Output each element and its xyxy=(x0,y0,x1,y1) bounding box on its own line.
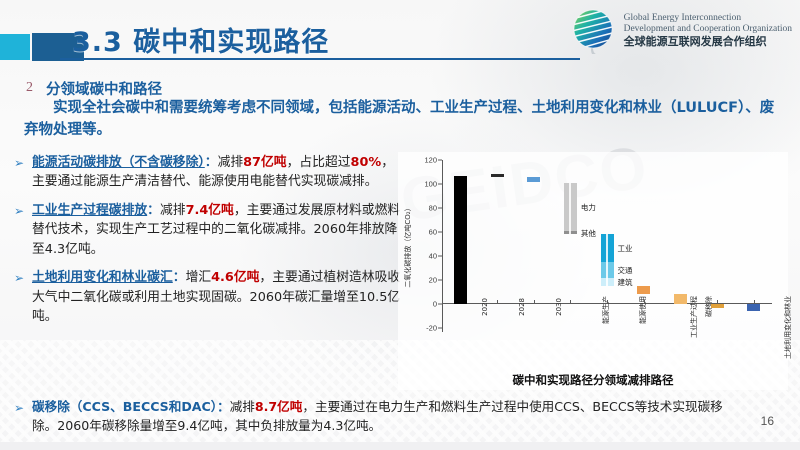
y-axis-tick-mark xyxy=(438,160,442,161)
y-axis-tick-mark xyxy=(438,232,442,233)
chart-bar xyxy=(711,304,724,308)
y-axis-tick-mark xyxy=(438,304,442,305)
chart-bar-divider xyxy=(606,234,608,286)
y-axis xyxy=(442,160,443,332)
chart-bar xyxy=(454,176,467,304)
chart-bar xyxy=(674,294,687,304)
x-axis-tick-label: 2028 xyxy=(518,298,526,316)
bullet-highlight: 7.4亿吨 xyxy=(186,203,234,218)
slide: 3.3 碳中和实现路径 xyxy=(0,0,800,450)
y-axis-tick-mark xyxy=(438,328,442,329)
page-title: 3.3 碳中和实现路径 xyxy=(72,20,329,59)
chart-bar xyxy=(527,177,540,182)
bullet-text-pre: 减排 xyxy=(230,399,255,414)
bullet-highlight: 4.6亿吨 xyxy=(211,270,259,285)
logo-en-line2: Development and Cooperation Organization xyxy=(624,24,792,35)
list-item: ➢ 能源活动碳排放（不含碳移除）：减排87亿吨，占比超过80%，主要通过能源生产… xyxy=(12,153,404,192)
chart-segment-label: 其他 xyxy=(581,228,596,239)
chart-segment-label: 工业 xyxy=(618,243,633,254)
bullet-highlight: 87亿吨 xyxy=(243,155,286,170)
x-axis-tick-label: 2020 xyxy=(481,298,489,316)
organization-logo: Global Energy Interconnection Developmen… xyxy=(572,6,792,56)
bullet-heading: 能源活动碳排放（不含碳移除） xyxy=(32,155,205,170)
chart-bar xyxy=(491,174,504,176)
bullet-list: ➢ 能源活动碳排放（不含碳移除）：减排87亿吨，占比超过80%，主要通过能源生产… xyxy=(12,153,404,336)
y-axis-tick-mark xyxy=(438,184,442,185)
bullet-text-mid: ，占比超过 xyxy=(287,155,351,170)
chart-segment-label: 电力 xyxy=(581,202,596,213)
x-axis-tick-mark xyxy=(497,300,498,304)
bullet-colon: ： xyxy=(147,203,160,218)
y-axis-tick-label: -20 xyxy=(426,324,437,333)
y-axis-tick-mark xyxy=(438,208,442,209)
bullet-heading: 土地利用变化和林业碳汇 xyxy=(32,270,173,285)
y-axis-tick-mark xyxy=(438,256,442,257)
globe-icon xyxy=(572,8,618,54)
section-marker: 2 xyxy=(26,80,33,96)
x-axis-tick-label: 工业生产过程 xyxy=(689,296,699,338)
y-axis-tick-label: 0 xyxy=(433,300,437,309)
chart-caption: 碳中和实现路径分领域减排路径 xyxy=(398,372,788,388)
arrow-bullet-icon: ➢ xyxy=(14,154,24,172)
page-number: 16 xyxy=(761,414,774,428)
x-axis-tick-mark xyxy=(607,300,608,304)
chart-plot-area: 二氧化碳排放（亿吨CO₂） -2002040608010012020202028… xyxy=(442,160,772,332)
y-axis-tick-label: 40 xyxy=(429,252,437,261)
y-axis-tick-label: 60 xyxy=(429,228,437,237)
section-title: 分领域碳中和路径 xyxy=(46,78,162,99)
list-item-carbon-removal: ➢ 碳移除（CCS、BECCS和DAC）：减排8.7亿吨，主要通过在电力生产和燃… xyxy=(12,398,732,436)
x-axis-tick-label: 土地利用变化和林业 xyxy=(783,296,793,359)
list-item: ➢ 土地利用变化和林业碳汇：增汇4.6亿吨，主要通过植树造林吸收大气中二氧化碳或… xyxy=(12,268,404,326)
y-axis-tick-label: 100 xyxy=(424,180,437,189)
y-axis-tick-label: 20 xyxy=(429,276,437,285)
bullet-heading: 工业生产过程碳排放 xyxy=(32,203,147,218)
bottom-strip xyxy=(0,442,800,450)
bullet-colon: ： xyxy=(205,155,218,170)
header-accent-cyan xyxy=(0,34,30,60)
bullet-heading: 碳移除（CCS、BECCS和DAC） xyxy=(32,399,217,414)
chart-bar xyxy=(637,286,650,294)
y-axis-tick-label: 80 xyxy=(429,204,437,213)
arrow-bullet-icon: ➢ xyxy=(14,399,24,417)
y-axis-label: 二氧化碳排放（亿吨CO₂） xyxy=(403,204,413,287)
logo-en-line1: Global Energy Interconnection xyxy=(624,13,792,24)
bullet-colon: ： xyxy=(217,399,230,414)
bullet-highlight: 8.7亿吨 xyxy=(255,399,303,414)
section-lead-paragraph: 实现全社会碳中和需要统筹考虑不同领域，包括能源活动、工业生产过程、土地利用变化和… xyxy=(24,98,784,142)
chart-segment-label: 建筑 xyxy=(618,277,633,288)
header-divider xyxy=(60,58,580,60)
chart-bar xyxy=(747,304,760,311)
bullet-text-pre: 减排 xyxy=(160,203,186,218)
x-axis-tick-mark xyxy=(570,300,571,304)
bullet-text-pre: 减排 xyxy=(218,155,244,170)
logo-cn-name: 全球能源互联网发展合作组织 xyxy=(624,36,792,49)
bullet-text-pre: 增汇 xyxy=(186,270,212,285)
x-axis-tick-mark xyxy=(644,300,645,304)
chart-segment-label: 交通 xyxy=(618,265,633,276)
y-axis-tick-label: 120 xyxy=(424,156,437,165)
arrow-bullet-icon: ➢ xyxy=(14,202,24,220)
y-axis-tick-mark xyxy=(438,280,442,281)
bullet-colon: ： xyxy=(173,270,186,285)
arrow-bullet-icon: ➢ xyxy=(14,269,24,287)
x-axis-tick-label: 2030 xyxy=(554,298,562,316)
x-axis-tick-mark xyxy=(534,300,535,304)
chart-bar-divider xyxy=(569,183,571,235)
logo-text-block: Global Energy Interconnection Developmen… xyxy=(624,13,792,49)
bullet-highlight-2: 80% xyxy=(351,155,382,170)
chart-container: 二氧化碳排放（亿吨CO₂） -2002040608010012020202028… xyxy=(398,152,788,390)
list-item: ➢ 工业生产过程碳排放：减排7.4亿吨，主要通过发展原材料或燃料替代技术，实现生… xyxy=(12,201,404,259)
slide-header: 3.3 碳中和实现路径 xyxy=(0,0,800,68)
